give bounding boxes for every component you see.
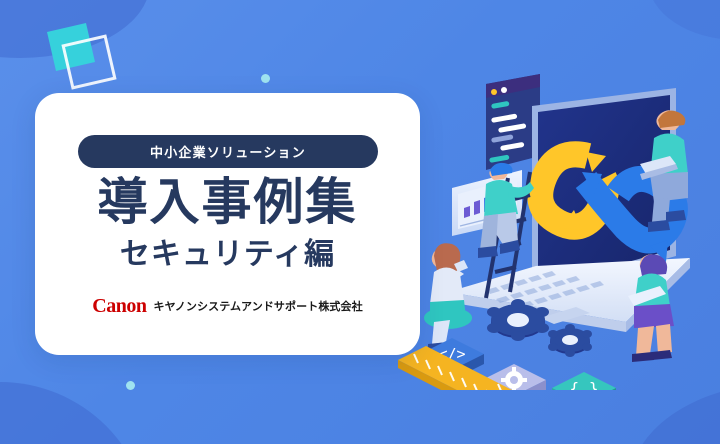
tile-curly-braces: { } xyxy=(552,372,616,390)
code-window-panel xyxy=(486,74,540,170)
rotated-square-outline-icon xyxy=(61,34,116,89)
content-card: 中小企業ソリューション 導入事例集 セキュリティ編 Canon キヤノンシステム… xyxy=(35,93,420,355)
page-subtitle: セキュリティ編 xyxy=(35,240,420,270)
corner-arc-bottom-right xyxy=(628,384,720,444)
category-badge: 中小企業ソリューション xyxy=(78,135,378,168)
corner-arc-bottom-left xyxy=(0,382,150,444)
gear-small-icon xyxy=(548,324,592,357)
accent-dot-bottom xyxy=(126,381,135,390)
accent-dot-top xyxy=(261,74,270,83)
corner-arc-top-right xyxy=(648,0,720,40)
canon-wordmark: Canon xyxy=(92,296,146,316)
devops-isometric-illustration: </> { } xyxy=(390,60,720,390)
company-name: キヤノンシステムアンドサポート株式会社 xyxy=(153,301,362,312)
category-badge-label: 中小企業ソリューション xyxy=(150,142,306,161)
brand-logo: Canon キヤノンシステムアンドサポート株式会社 xyxy=(35,296,420,316)
page-title: 導入事例集 xyxy=(35,177,420,227)
tile-braces-label: { } xyxy=(570,379,599,390)
slide-root: </> { } xyxy=(0,0,720,444)
